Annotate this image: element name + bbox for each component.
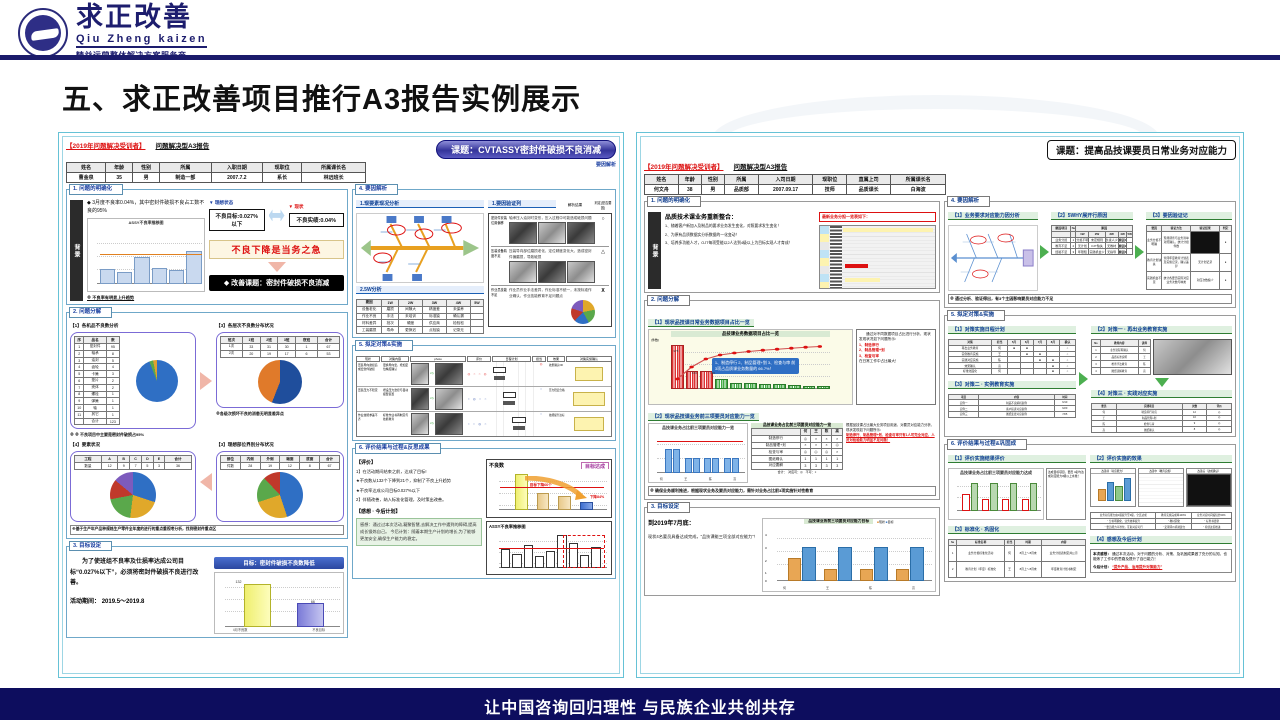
section-4-no: 4. [359, 186, 364, 192]
person-info-table: 姓名 年龄 性别 所属 入职日期 现职位 所属课长名 曹金泉 35 男 制造一部… [66, 162, 366, 183]
goal-cat-2: 王 [826, 586, 829, 590]
r-section-2-no: 2. [651, 297, 656, 303]
defect-item-pie-chart [136, 360, 178, 402]
ideal-state-label: ▼ 理想状态 [209, 200, 265, 207]
section-1-no: 1. [73, 186, 78, 192]
page-title: 五、求正改善项目推行A3报告实例展示 [62, 76, 581, 118]
position-pie-chart [257, 472, 303, 518]
th: 姓名 [645, 175, 679, 185]
activity-period-label: 活动期间： [70, 599, 100, 605]
reflect-body: 感想：通过过本次活动,凝聚智慧,去解决工作中遇到的障碍,提高成长锻炼自己。 今后… [356, 518, 482, 546]
a3-report-right: 课题：提高品技课要员日常业务对应能力 【2019年问题解决受训者】 问题解决型A… [636, 132, 1244, 678]
ability-cat-4: 高 [733, 477, 736, 481]
section-4-title: 要因解析 [365, 186, 387, 192]
section-5-no: 5. [359, 342, 364, 348]
td: 对应要解 [752, 462, 801, 469]
defect-item-table: 序品名数 1密封件952轴承8 3油封54齿轮4 5卡簧36垫片2 7壳体28螺… [74, 336, 120, 425]
owner-note: 要因解析 [596, 159, 616, 168]
eval-item-1: 1】在活动期间结束之前，达成了目标! [356, 469, 482, 475]
td: 35 [106, 173, 133, 183]
th: 入职日期 [211, 163, 262, 173]
th: 现职位 [813, 175, 847, 185]
sub-2-3b-tag: 【3】理想部位界别分布状况 [216, 442, 344, 448]
ability-cat-2: 王 [684, 477, 687, 481]
th: 姓名 [67, 163, 106, 173]
r-section-3-no: 3. [651, 504, 656, 510]
topic-title-right: 课题：提高品技课要员日常业务对应能力 [1047, 140, 1236, 160]
r-sub-6-1-tag: 【1】评价实施结果评价 [948, 455, 1086, 463]
th: 入司日期 [758, 175, 813, 185]
r-item-2: 2、为原有品质数据实分析数据的一化变动！ [665, 233, 815, 239]
r-item-3: 3、培养多功能人才，OJT每项受能以2人达到4级以上为目标实现人才育成！ [665, 241, 815, 247]
element-table: 工程ABCDE合计 数量12975336 [74, 455, 192, 470]
r-fishbone-diagram [948, 225, 1038, 291]
urgency-banner: 不良下降是当务之急 [209, 240, 344, 259]
goal-body: 为了使班组不良率及仕损率达成公司目标“0.027%以下”，必须将密封件破损不良进… [70, 557, 210, 589]
current-state-value: 不良实绩:0.04% [289, 213, 345, 227]
r-section-4-no: 4. [951, 198, 956, 204]
th: 年龄 [106, 163, 133, 173]
section-1-problem-clarification: 1. 问题的明确化 背景 ◆ 3月度不良率0.04%，其中密封件破损不良占工数不… [66, 189, 348, 305]
right-arrow-icon [200, 372, 212, 390]
ideal-state-value: 不良目标:0.027%以下 [209, 209, 265, 231]
eval-item-4: 2】伴随改善，纳入标准化管理，及时策出改善。 [356, 497, 482, 503]
ability-bar-chart: 品技课业务占比前三项要员对应能力一览 [648, 423, 748, 483]
report-type-label-right: 问题解决型A3报告 [733, 161, 787, 171]
position-table: 部位内侧外侧端面底面合计 件数281912867 [220, 455, 340, 470]
r-section-5-countermeasures: 5. 拟定对策&实施 【1】对策实施日程计划 对策担当5月6月7月8月确认 再出… [944, 315, 1236, 437]
th: 陈 [821, 429, 832, 436]
sub-2-3-note: ※各级次损坏不良的消患无明显差异点 [216, 411, 344, 417]
r-section-3-goal-setting: 3. 目标设定 到2019年7月底： 现状4名要员具备达成完成，“品技课能三项全… [644, 507, 940, 596]
table-row: 曹金泉 35 男 制造一部 2007.7.2 系长 林远班长 [67, 173, 366, 183]
r-item-1: 1、随着客户新加入及制品的要求业务发生变化，对照要求发生变化！ [665, 224, 815, 230]
section-3-title: 目标设定 [79, 543, 101, 549]
td: 何文舟 [645, 185, 679, 195]
r-countermeasure-1-table: No教育内容讲师 1业务流程再确认何 2品质标准说明王 3检查手法教育陈 4图纸… [1091, 339, 1151, 375]
chart1-note2: 下降84% [590, 495, 604, 500]
section-6-title: 评价结果与过程&反思成果 [365, 445, 429, 451]
comparison-arrows-icon [269, 209, 285, 221]
sub-4-2-tag: 2.5W分析 [356, 286, 484, 294]
brand-text: 求正改善 Qiu Zheng kaizen 精益运营整体解决方案服务商 [76, 4, 207, 61]
brand-name-cn: 求正改善 [76, 4, 207, 31]
r-sub-5-4-tag: 【4】对策三 · 实践对应实施 [1091, 390, 1232, 398]
td: 制造停行 [752, 435, 801, 442]
verify-col-2: 解析结果 [558, 203, 592, 208]
td: 2007.09.17 [758, 185, 813, 195]
legend-goal: 目标 [888, 520, 894, 524]
reflect-title: 【感想 · 今后计划】 [356, 508, 482, 515]
section-2-title: 问题分解 [79, 309, 101, 315]
green-arrow-icon-2 [1135, 245, 1144, 259]
td: 制品管理+划 [752, 442, 801, 449]
left-arrow-icon [200, 473, 212, 491]
sub-2-4-tag: 【4】要素状况 [70, 442, 196, 448]
brand-name-pinyin: Qiu Zheng kaizen [76, 33, 207, 48]
r-sub-6-4-tag: 【4】感想及今后计划 [1090, 536, 1232, 544]
r-section-2-problem-breakdown: 2. 问题分解 【1】现状品技课日常业务数据项目占比一览 品技课业务数据项目占比… [644, 300, 940, 500]
th: 所属课长名 [302, 163, 366, 173]
ability-matrix-table: 何 王 陈 高 制造停行◎××× 制品管理+划×××◎ 检查与审◎◎◎× 图纸确… [751, 428, 843, 470]
th: 高 [832, 429, 843, 436]
section-2-bottom-note: ※基于生产年产品种规格生产零件全年度的进行的重点重视考分析，找到密封件重点区 [70, 525, 344, 535]
ability-cat-3: 陈 [709, 477, 712, 481]
td: 曹金泉 [67, 173, 106, 183]
ability-note-lead: 根据品技课占比最大业务项目用途，对要员对应能力分析，现状发现如下问题所示： [846, 423, 936, 433]
r-goal-body: 现状4名要员具备达成完成，“品技课能三项全部对应能力”！ [648, 534, 758, 540]
th: 何 [800, 429, 811, 436]
section-3-goal-setting: 3. 目标设定 为了使班组不良率及仕损率达成公司目标“0.027%以下”，必须将… [66, 546, 348, 638]
defect-count-result-chart: 目标下降66个 下降84% [489, 469, 609, 515]
section-1-title: 问题的明确化 [79, 186, 112, 192]
r-result-chart: 品技课业务占比前三项要员对应能力达成 [948, 468, 1044, 520]
section-5-title: 拟定对策&实施 [365, 342, 402, 348]
ability-note-highlight: 制造停行、制品管理+划、检查与审只有1人可完全对应，人员对检验能力明显不足问题！ [846, 433, 936, 443]
td: 男 [133, 173, 160, 183]
th: 性别 [133, 163, 160, 173]
r-section-4-bottom-note: ※ 通过分析、验证得出，有3个主因影响要员对应能力不足 [948, 294, 1232, 304]
chart-title: ASSY不良率推移图 [88, 219, 204, 226]
goal-cat-4: 高 [912, 586, 915, 590]
pareto-chart-title: 品技课业务数据项目占比一览 [671, 331, 830, 337]
r-sub-4-1-tag: 【1】业务要求对应能力因分析 [948, 212, 1038, 220]
theme-banner: ◆ 改善课题：密封件破损不良消减 [209, 275, 344, 291]
goal-ability-chart: 品技课业务前三项要员对应能力目标 ■现状 ■目标 4 3 2 1 0 [762, 518, 936, 592]
r-section-5-title: 拟定对策&实施 [957, 312, 994, 318]
r-section-1-title: 问题的明确化 [657, 198, 690, 204]
verify-mark: △ [597, 249, 609, 255]
ability-chart-title: 品技课业务占比前三项要员对应能力一览 [649, 424, 747, 431]
r-countermeasure-3-table: 要员实践项目次数评价 何制造停行对应12◎ 王制品管理+划10◎ 陈检查与审9◎… [1091, 403, 1232, 433]
table-header-row: 姓名 年龄 性别 所属 入职日期 现职位 所属课长名 [67, 163, 366, 173]
section-6-no: 6. [359, 445, 364, 451]
ability-cat-1: 何 [660, 477, 663, 481]
r-sub-5-3-tag: 【3】对策二 · 实例教育实施 [948, 381, 1076, 389]
person-info-table-right: 姓名 年龄 性别 所属 入司日期 现职位 直属上司 所属课长名 何文舟 38 男… [644, 174, 946, 195]
th: 现职位 [263, 163, 302, 173]
r-sub-2-2-tag: 【2】现状品技课业务前三项要员对应能力一览 [648, 413, 759, 421]
r-sub-4-2-tag: 【2】5WHY展开行原因 [1051, 212, 1133, 220]
th: 所属课长名 [891, 175, 946, 185]
eval-item-3: ★不良率达成公司目标0.027%以下 [356, 488, 482, 494]
r-section-2-title: 问题分解 [657, 297, 679, 303]
pareto-chart: 品技课业务数据项目占比一览 (件数) [648, 329, 853, 405]
r-result-chart-title: 品技课业务占比前三项要员对应能力达成 [949, 469, 1043, 476]
page-header: 求正改善 Qiu Zheng kaizen 精益运营整体解决方案服务商 [0, 0, 1280, 58]
section-1-footer-note: ※ 不良率有明显上升趋势 [87, 295, 205, 301]
r-goal-deadline: 到2019年7月底： [648, 518, 758, 527]
td: 图纸确认 [752, 456, 801, 463]
td: 检查与审 [752, 449, 801, 456]
sub-4-3-tag: 1.要因验证列 [488, 200, 556, 208]
fishbone-diagram [356, 213, 484, 283]
header-rule [0, 55, 1280, 60]
td: 白海波 [891, 185, 946, 195]
r-cause-verify-table: 要因验证方法验证结果判定 业务分担不明确现场调查与业务清单对照确认，统计分担件数… [1146, 225, 1232, 290]
defect-rate-result-chart [489, 530, 609, 572]
goal-bar-chart: 132 66 4月不良数 不良目标 [214, 572, 344, 634]
a3-report-left: 【2019年问题解决受训者】 问题解决型A3报告 课题：CVTASSY密封件破损… [58, 132, 624, 678]
r-sub-4-3-tag: 【3】要因验证记 [1146, 212, 1232, 220]
shift-defect-table: 班次1班2班3班夜班合计 1次333130167 2次201917653 [220, 336, 340, 357]
topic-title: 课题：CVTASSY密封件破损不良消减 [436, 140, 616, 159]
table-row: 何文舟 38 男 品质部 2007.09.17 技师 品质课长 白海波 [645, 185, 946, 195]
td: 品质课长 [847, 185, 891, 195]
green-arrow-icon [1040, 245, 1049, 259]
sub-2-1-tag: 【1】各机品不良数分析 [70, 323, 196, 329]
r-sub-5-2-tag: 【2】对策一 · 再出业务教育实施 [1091, 326, 1232, 334]
r-countermeasure-2-table: 项目内容时间 实例一制品不良解析案例6/10 实例二客户投诉对应案例6/20 实… [948, 394, 1076, 418]
section-2-no: 2. [73, 309, 78, 315]
background-bullet: ◆ 3月度不良率0.04%，其中密封件破损不良占工数不良的95% [87, 200, 205, 215]
td: 38 [678, 185, 701, 195]
section-2-problem-breakdown: 2. 问题分解 【1】各机品不良数分析 序品名数 1密封件952轴承8 3油封5… [66, 312, 348, 538]
th: 年龄 [678, 175, 701, 185]
ability-table-title: 品技课业务占比前三项要员对应能力一览 [751, 423, 843, 428]
trainee-tag: 【2019年问题解决受训者】 [66, 140, 145, 150]
footer-slogan: 让中国咨询回归理性 与民族企业共创共存 [0, 694, 1280, 718]
td: 林远班长 [302, 173, 366, 183]
goal-cat-3: 陈 [869, 586, 872, 590]
r-standardization-table: №标准名称担当时期内容 1业务分担标准化活动何8月上～8月末业务分担表制定并公示… [948, 539, 1086, 578]
five-why-table: 要因1W2W3W4W5W 设备老化磨损间隙大精度差未保养 作业不良手法未培训标准… [356, 299, 484, 334]
r-sub-5-1-tag: 【1】对策实施日程计划 [948, 326, 1076, 334]
td: 品质部 [724, 185, 758, 195]
pareto-axis-label: (件数) [651, 338, 659, 342]
r-section-1-no: 1. [651, 198, 656, 204]
verify-mark: X [597, 288, 609, 294]
green-down-arrow-icon [1155, 378, 1169, 387]
eval-title: 【评价】 [356, 459, 482, 466]
pareto-note-tail: 在日常工作中占比最大！ [859, 359, 933, 364]
td: 2007.7.2 [211, 173, 262, 183]
r-reflect-body: 通过本次活动，对于问题的分析、对策、及巩固成果做了充分的认知，也锻炼了工作中的思… [1093, 552, 1227, 561]
sub-4-1-tag: 1.现要素现况分析 [356, 200, 484, 208]
td: 技师 [813, 185, 847, 195]
r-sub-2-1-tag: 【1】现状品技课日常业务数据项目占比一览 [648, 319, 754, 327]
pareto-note-lead: 通过对不同数据项目占比进行分析，现状发现状况如下问题所示： [859, 332, 933, 343]
section-3-no: 3. [73, 543, 78, 549]
r-reflect-lead: 本次感想： [1093, 552, 1111, 556]
r-background-chip: 背景 [648, 212, 661, 289]
brand-logo: 求正改善 Qiu Zheng kaizen 精益运营整体解决方案服务商 [18, 4, 207, 61]
report-type-label: 问题解决型A3报告 [155, 140, 209, 150]
sub-2-1-note: ※ ※ 不良项目中主要是密封件破损占95% [70, 432, 196, 438]
th: 所属 [160, 163, 211, 173]
eval-item-2: ★不良数从132个下降到21个，抑制了不良上升趋势 [356, 478, 482, 484]
pareto-callout: 1、制造停行 2、制品管理+划 3、检查与审 前3项占品质课业务数量的 66.7… [712, 358, 799, 374]
th: 直属上司 [847, 175, 891, 185]
section-4-cause-analysis: 4. 要因解析 1.现要素现况分析 [352, 189, 616, 338]
r-sub-6-3-tag: 【3】标准化 · 巩固化 [948, 526, 1086, 534]
th: 所属 [724, 175, 758, 185]
section-6-evaluation: 6. 评价结果与过程&反思成果 【评价】 1】在活动期间结束之前，达成了目标! … [352, 448, 616, 579]
r-schedule-table: 对策担当5月6月7月8月确认 再出业务教育何■■○ 实例教育实施王■■○ 实践对… [948, 339, 1076, 375]
current-state-label: ▼ 现状 [289, 204, 345, 211]
r-sub-6-2-tag: 【2】评价实施的效果 [1090, 455, 1232, 463]
goal-cat-1: 何 [783, 586, 786, 590]
down-arrow-icon [268, 262, 286, 272]
defect-rate-trend-chart: ASSY不良率推移图 [87, 218, 205, 292]
verify-mark: ○ [597, 216, 609, 222]
r-section-6-title: 评价结果与过程&巩固成 [957, 441, 1016, 447]
legend-now: 现状 [879, 520, 885, 524]
td: 男 [701, 185, 724, 195]
sub-2-1-note-text: ※ 不良项目中主要是密封件破损占95% [75, 432, 144, 437]
th: 王 [811, 429, 822, 436]
trainee-tag-right: 【2019年问题解决受训者】 [644, 161, 723, 171]
background-chip: 背景 [70, 200, 83, 301]
r-section-1-problem-clarification: 1. 问题的明确化 背景 品质技术课业务重新整合： 1、随着客户新加入及制品的要… [644, 201, 940, 293]
r-section-4-cause-analysis: 4. 要因解析 【1】业务要求对应能力因分析 [944, 201, 1236, 308]
sub-2-3-tag: 【3】各层次不良数分布状况 [216, 323, 344, 329]
th: 性别 [701, 175, 724, 185]
r-section-3-title: 目标设定 [657, 504, 679, 510]
r-section-5-no: 5. [951, 312, 956, 318]
r-effect-table: 业务对应能力由1级提升至3级，全员达成教育实施完成率100%业务对应时间缩短约3… [1090, 512, 1232, 530]
a3-left-header: 【2019年问题解决受训者】 问题解决型A3报告 课题：CVTASSY密封件破损… [66, 140, 616, 159]
r-five-why-table: 要因项目№原因 1W2W3W4W5W 业务分担1分担不明未定规则负责人少要因1 … [1051, 225, 1133, 255]
r-plan-lead: 今后计划： [1093, 565, 1111, 569]
goal-chart-banner: 目标：密封件破损不良数降低 [214, 557, 344, 569]
green-arrow-icon-3 [1079, 372, 1088, 386]
business-assignment-table-image [819, 225, 936, 289]
r-plan-body: “提升产品、治用提升对策能力” [1112, 565, 1162, 569]
td: 系长 [263, 173, 302, 183]
verify-col-3: 判定(是否要因) [594, 200, 612, 210]
r-section-6-evaluation: 6. 评价结果与过程&巩固成 【1】评价实施结果评价 品技课业务占比前三项要员对… [944, 444, 1236, 582]
skill-pie-chart [571, 300, 595, 324]
r-section-6-no: 6. [951, 441, 956, 447]
element-pie-chart [110, 472, 156, 518]
r-table-caption: 最新业务分担一览表如下： [819, 212, 936, 222]
shift-defect-pie-chart [258, 360, 302, 404]
activity-period-value: 2019.5～2019.8 [102, 599, 145, 605]
table-header-row: 姓名 年龄 性别 所属 入司日期 现职位 直属上司 所属课长名 [645, 175, 946, 185]
r-section-2-bottom-note: ※ 确保业务顺利推进，根据现状业务及要员对应能力，需针对业务占比前3项实施针对性… [648, 486, 936, 496]
section-5-countermeasures: 5. 拟定对策&实施 现状 对策内容 photo 评价 日程计划 担当 效果 对… [352, 345, 616, 441]
r-lead: 品质技术课业务重新整合： [665, 212, 815, 221]
circle-swoosh-logo-icon [18, 8, 68, 58]
td: 制造一部 [160, 173, 211, 183]
r-section-4-title: 要因解析 [957, 198, 979, 204]
r-goal-chart-title: 品技课业务前三项要员对应能力目标 [804, 519, 873, 524]
